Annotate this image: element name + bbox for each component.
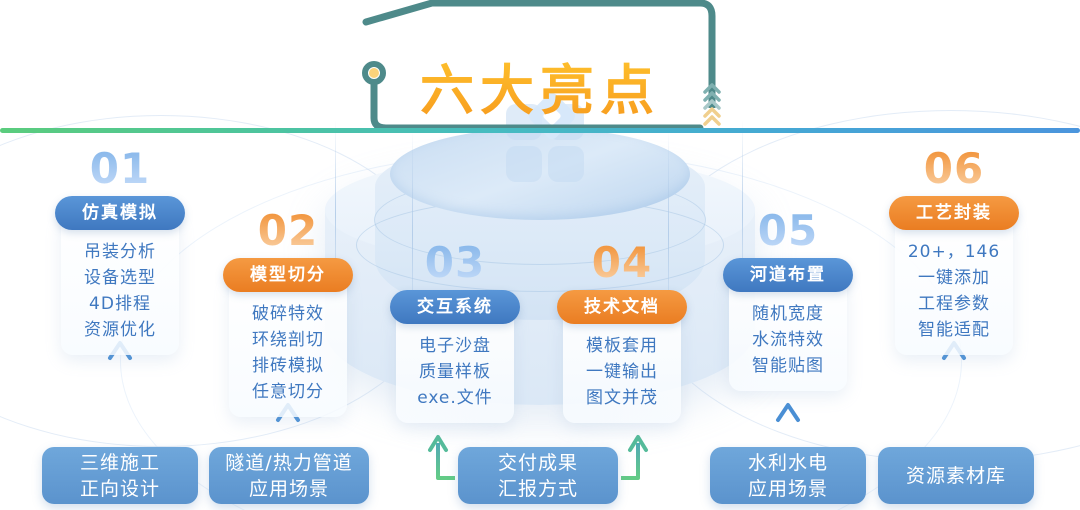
- feature-body: 模板套用 一键输出 图文并茂: [563, 307, 681, 423]
- scenario-line: 汇报方式: [498, 476, 578, 502]
- feature-title-pill[interactable]: 河道布置: [723, 258, 853, 292]
- feature-line: 20+，146: [895, 239, 1013, 265]
- scenario-line: 正向设计: [80, 476, 160, 502]
- scenario-line: 交付成果: [498, 450, 578, 476]
- scenario-box-3[interactable]: 交付成果 汇报方式: [458, 447, 618, 504]
- feature-number: 01: [61, 144, 179, 193]
- scenario-line: 应用场景: [249, 476, 329, 502]
- feature-line: 电子沙盘: [396, 333, 514, 359]
- decor-square: [548, 146, 584, 182]
- feature-body: 20+，146 一键添加 工程参数 智能适配: [895, 213, 1013, 355]
- feature-number: 03: [396, 238, 514, 287]
- feature-body: 随机宽度 水流特效 智能贴图: [729, 275, 847, 391]
- feature-line: 破碎特效: [229, 301, 347, 327]
- gradient-divider: [0, 128, 1080, 133]
- feature-line: 环绕剖切: [229, 327, 347, 353]
- scenario-box-5[interactable]: 资源素材库: [878, 447, 1034, 504]
- feature-body: 吊装分析 设备选型 4D排程 资源优化: [61, 213, 179, 355]
- feature-line: 工程参数: [895, 291, 1013, 317]
- feature-title-pill[interactable]: 仿真模拟: [55, 196, 185, 230]
- feature-title-pill[interactable]: 工艺封装: [889, 196, 1019, 230]
- feature-line: 一键添加: [895, 265, 1013, 291]
- scenario-line: 资源素材库: [906, 463, 1006, 489]
- feature-line: 水流特效: [729, 327, 847, 353]
- feature-line: 任意切分: [229, 379, 347, 405]
- feature-line: 4D排程: [61, 291, 179, 317]
- scenario-line: 三维施工: [80, 450, 160, 476]
- page-title: 六大亮点: [0, 46, 1080, 125]
- feature-body: 电子沙盘 质量样板 exe.文件: [396, 307, 514, 423]
- feature-number: 06: [895, 144, 1013, 193]
- feature-line: 智能贴图: [729, 353, 847, 379]
- scenario-line: 水利水电: [748, 450, 828, 476]
- feature-number: 02: [229, 206, 347, 255]
- scenario-box-1[interactable]: 三维施工 正向设计: [42, 447, 198, 504]
- feature-line: 图文并茂: [563, 385, 681, 411]
- feature-title-pill[interactable]: 交互系统: [390, 290, 520, 324]
- infographic-canvas: 六大亮点 01: [0, 0, 1080, 510]
- feature-line: 模板套用: [563, 333, 681, 359]
- feature-line: 吊装分析: [61, 239, 179, 265]
- feature-line: 智能适配: [895, 317, 1013, 343]
- decor-square: [506, 146, 542, 182]
- feature-line: 设备选型: [61, 265, 179, 291]
- scenario-line: 隧道/热力管道: [225, 450, 352, 476]
- feature-title-pill[interactable]: 技术文档: [557, 290, 687, 324]
- feature-line: exe.文件: [396, 385, 514, 411]
- scenario-box-4[interactable]: 水利水电 应用场景: [710, 447, 866, 504]
- feature-number: 05: [729, 206, 847, 255]
- feature-line: 资源优化: [61, 317, 179, 343]
- feature-line: 排砖模拟: [229, 353, 347, 379]
- feature-line: 随机宽度: [729, 301, 847, 327]
- feature-body: 破碎特效 环绕剖切 排砖模拟 任意切分: [229, 275, 347, 417]
- feature-number: 04: [563, 238, 681, 287]
- scenario-line: 应用场景: [748, 476, 828, 502]
- feature-title-pill[interactable]: 模型切分: [223, 258, 353, 292]
- feature-line: 质量样板: [396, 359, 514, 385]
- feature-line: 一键输出: [563, 359, 681, 385]
- scenario-box-2[interactable]: 隧道/热力管道 应用场景: [209, 447, 369, 504]
